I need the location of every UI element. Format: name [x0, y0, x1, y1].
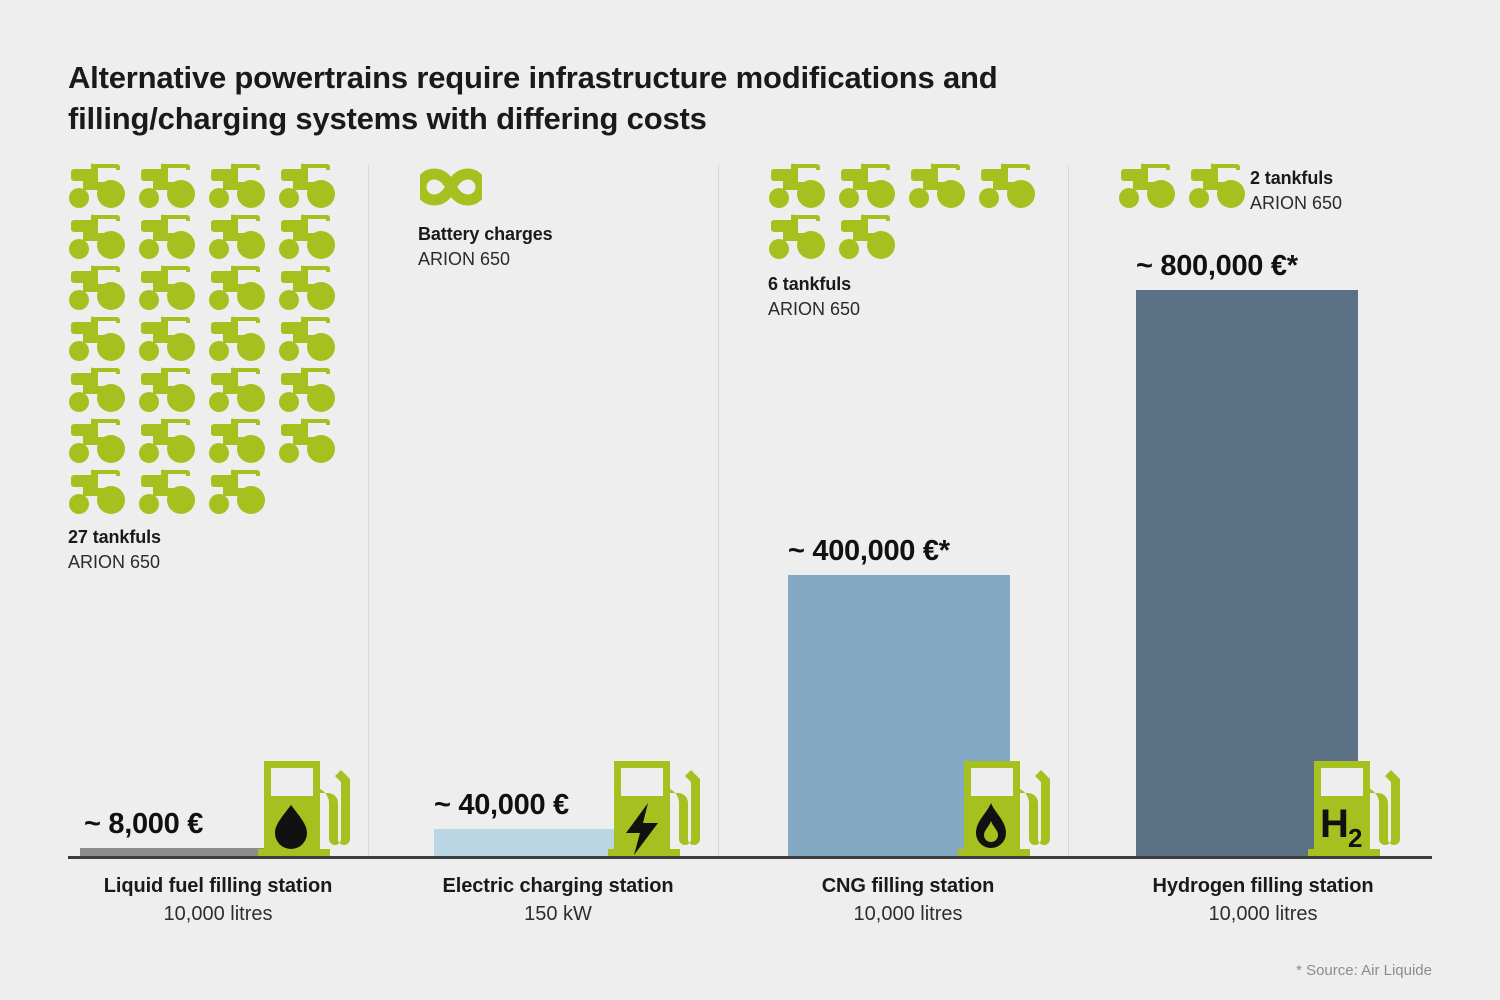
tractor-icon [278, 364, 340, 414]
tractor-icon [1118, 160, 1180, 210]
axis-title: CNG filling station [748, 872, 1068, 900]
tractor-icon [138, 415, 200, 465]
capacity-subtitle: ARION 650 [418, 247, 553, 272]
column-divider-1 [368, 165, 369, 857]
pump-body [258, 761, 350, 857]
capacity-caption-hydrogen: 2 tankfuls ARION 650 [1250, 166, 1342, 216]
capacity-subtitle: ARION 650 [68, 550, 161, 575]
page-title: Alternative powertrains require infrastr… [68, 58, 1168, 140]
tractor-icon [978, 160, 1040, 210]
tractor-icon [138, 313, 200, 363]
axis-label-hydrogen: Hydrogen filling station 10,000 litres [1098, 872, 1428, 929]
chart-baseline [68, 856, 1432, 859]
infinity-icon [420, 166, 482, 208]
tractor-icon [208, 466, 270, 516]
axis-title: Electric charging station [398, 872, 718, 900]
capacity-title: 27 tankfuls [68, 525, 161, 550]
pump-body [608, 761, 700, 857]
capacity-caption-cng: 6 tankfuls ARION 650 [768, 272, 860, 322]
tractor-icon [278, 262, 340, 312]
axis-title: Liquid fuel filling station [68, 872, 368, 900]
tractor-icon [138, 364, 200, 414]
axis-subtitle: 10,000 litres [1098, 900, 1428, 928]
pump-icon-electric [608, 753, 704, 857]
capacity-title: 6 tankfuls [768, 272, 860, 297]
axis-label-liquid-fuel: Liquid fuel filling station 10,000 litre… [68, 872, 368, 929]
capacity-title: Battery charges [418, 222, 553, 247]
bar-label-cng: ~ 400,000 €* [788, 535, 950, 568]
tractor-icon [278, 415, 340, 465]
tractor-icon [208, 160, 270, 210]
source-footnote: * Source: Air Liquide [1296, 962, 1432, 979]
column-divider-2 [718, 165, 719, 857]
tractor-icon [208, 211, 270, 261]
tractor-icon [138, 211, 200, 261]
tractor-icon [208, 364, 270, 414]
capacity-caption-liquid: 27 tankfuls ARION 650 [68, 525, 161, 575]
tractor-icon [68, 160, 130, 210]
tractor-icon [68, 415, 130, 465]
tractor-icon-grid-cng [768, 160, 1048, 262]
pump-icon-liquid-fuel [258, 753, 354, 857]
tractor-icon [138, 160, 200, 210]
capacity-title: 2 tankfuls [1250, 166, 1342, 191]
tractor-icon [68, 313, 130, 363]
tractor-icon [1188, 160, 1250, 210]
tractor-icon [838, 160, 900, 210]
bar-label-electric: ~ 40,000 € [434, 789, 569, 822]
tractor-icon [68, 262, 130, 312]
tractor-icon [138, 466, 200, 516]
bar-label-hydrogen: ~ 800,000 €* [1136, 250, 1298, 283]
bar-electric [434, 829, 626, 856]
axis-subtitle: 10,000 litres [748, 900, 1068, 928]
h2-subscript: 2 [1348, 823, 1362, 853]
tractor-icon [208, 262, 270, 312]
axis-title: Hydrogen filling station [1098, 872, 1428, 900]
axis-label-cng: CNG filling station 10,000 litres [748, 872, 1068, 929]
pump-icon-cng [958, 753, 1054, 857]
tractor-icon [68, 364, 130, 414]
tractor-icon [208, 313, 270, 363]
tractor-icon [838, 211, 900, 261]
axis-subtitle: 150 kW [398, 900, 718, 928]
axis-subtitle: 10,000 litres [68, 900, 368, 928]
tractor-icon [278, 160, 340, 210]
tractor-icon [68, 211, 130, 261]
tractor-icon [768, 211, 830, 261]
tractor-icon [278, 313, 340, 363]
column-divider-3 [1068, 165, 1069, 857]
pump-body [958, 761, 1050, 857]
tractor-icon [138, 262, 200, 312]
h2-letter: H [1320, 802, 1349, 846]
capacity-subtitle: ARION 650 [768, 297, 860, 322]
tractor-icon-grid-liquid [68, 160, 348, 517]
tractor-icon [768, 160, 830, 210]
bar-label-liquid-fuel: ~ 8,000 € [84, 808, 203, 841]
infographic-root: Alternative powertrains require infrastr… [0, 0, 1500, 1000]
bar-liquid-fuel [80, 848, 276, 856]
pump-icon-hydrogen: H 2 [1308, 753, 1404, 857]
axis-label-electric: Electric charging station 150 kW [398, 872, 718, 929]
capacity-caption-electric: Battery charges ARION 650 [418, 222, 553, 272]
tractor-icon [208, 415, 270, 465]
tractor-icon [908, 160, 970, 210]
tractor-icon-grid-hydrogen [1118, 160, 1268, 211]
tractor-icon [278, 211, 340, 261]
capacity-subtitle: ARION 650 [1250, 191, 1342, 216]
tractor-icon [68, 466, 130, 516]
